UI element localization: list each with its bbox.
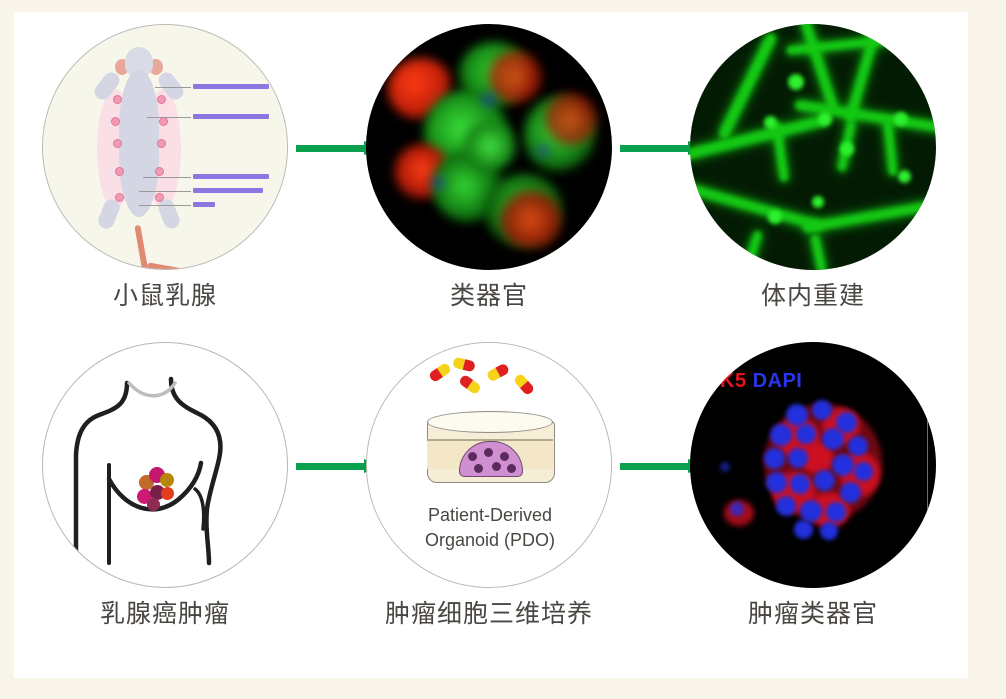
dapi-channel-label: DAPI [753, 370, 803, 392]
caption-in-vivo-reconstruction: 体内重建 [660, 276, 966, 312]
panel-breast-cancer-tumor: 乳腺癌肿瘤 [42, 342, 288, 588]
petri-dish-icon [427, 411, 553, 487]
tumor-organoid-image: K5DAPI 25 µm [690, 342, 936, 588]
scale-bar-label: 25 µm [904, 549, 926, 558]
row-patient-tumor-workflow: 乳腺癌肿瘤 [14, 330, 968, 663]
pdo-illustration: Patient-Derived Organoid (PDO) [366, 342, 612, 588]
pdo-line-1: Patient-Derived [367, 503, 612, 528]
image-edge-line [927, 362, 929, 568]
panel-organoid: 类器官 [366, 24, 612, 270]
mouse-mammary-gland-image [42, 24, 288, 270]
scale-bar [896, 560, 922, 564]
panel-tumor-organoid: K5DAPI 25 µm 肿瘤类器官 [690, 342, 936, 588]
caption-tumor-organoid: 肿瘤类器官 [660, 594, 966, 630]
pdo-caption: Patient-Derived Organoid (PDO) [367, 503, 612, 553]
channel-legend: K5DAPI [720, 370, 802, 393]
tumor-cell [147, 498, 160, 511]
female-torso-line-art [43, 343, 288, 588]
row-mouse-mammary-workflow: 小鼠乳腺 类器官 [14, 12, 968, 345]
in-vivo-reconstruction-image [690, 24, 936, 270]
organoid-image [366, 24, 612, 270]
k5-channel-label: K5 [720, 370, 747, 392]
caption-tumor-3d-culture: 肿瘤细胞三维培养 [336, 594, 642, 630]
tumor-cell [160, 473, 174, 487]
pdo-line-2: Organoid (PDO) [367, 528, 612, 553]
breast-cancer-tumor-image [42, 342, 288, 588]
tumor-cell [161, 487, 174, 500]
mouse-illustration [95, 43, 183, 243]
caption-mouse-mammary-gland: 小鼠乳腺 [12, 276, 318, 312]
panel-tumor-3d-culture: Patient-Derived Organoid (PDO) 肿瘤细胞三维培养 [366, 342, 612, 588]
panel-mouse-mammary-gland: 小鼠乳腺 [42, 24, 288, 270]
figure-card: 小鼠乳腺 类器官 [14, 12, 968, 678]
panel-in-vivo-reconstruction: 体内重建 [690, 24, 936, 270]
caption-organoid: 类器官 [336, 276, 642, 312]
caption-breast-cancer-tumor: 乳腺癌肿瘤 [12, 594, 318, 630]
